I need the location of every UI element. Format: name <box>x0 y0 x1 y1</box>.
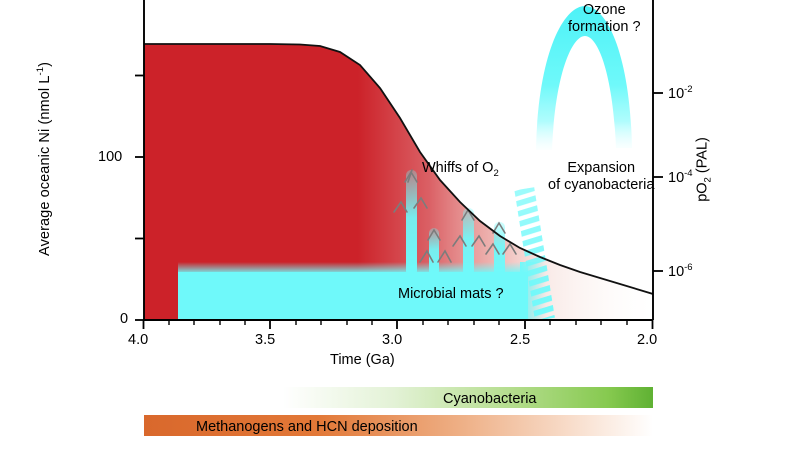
y-axis-right-ticks <box>653 93 663 271</box>
microbial-mat-band-top-fade <box>178 262 528 274</box>
y-axis-left-title: Average oceanic Ni (nmol L-1) <box>35 39 53 279</box>
y-axis-left-title-text: Average oceanic Ni (nmol L <box>37 75 53 255</box>
x-tick-label-2-5: 2.5 <box>510 332 530 348</box>
y-axis-right-title: pO2 (PAL) <box>695 79 714 259</box>
y2-tick-label-2: 10-4 <box>668 168 693 186</box>
whiff-spike-1 <box>406 170 417 276</box>
x-tick-label-3-0: 3.0 <box>382 332 402 348</box>
y-tick-label-0: 0 <box>120 311 128 327</box>
x-axis-title: Time (Ga) <box>330 352 395 368</box>
x-tick-label-4-0: 4.0 <box>128 332 148 348</box>
cyanobacteria-bar-label: Cyanobacteria <box>443 391 537 407</box>
y2-tick-label-1: 10-2 <box>668 84 693 102</box>
annotation-whiffs-of-o2: Whiffs of O2 <box>422 160 499 180</box>
x-tick-label-2-0: 2.0 <box>637 332 657 348</box>
annotation-expansion-of-cyanobacteria: Expansionof cyanobacteria <box>548 160 654 193</box>
y-tick-label-100: 100 <box>98 149 122 165</box>
annotation-ozone-formation: Ozoneformation ? <box>568 2 641 35</box>
figure-canvas <box>0 0 800 450</box>
y-axis-left-title-suffix: ) <box>37 62 53 67</box>
x-tick-label-3-5: 3.5 <box>255 332 275 348</box>
y-axis-left-title-exponent: -1 <box>35 67 46 76</box>
annotation-microbial-mats: Microbial mats ? <box>398 286 504 303</box>
methanogens-bar-label: Methanogens and HCN deposition <box>196 419 418 435</box>
y-axis-left-ticks <box>135 76 144 321</box>
y2-tick-label-3: 10-6 <box>668 262 693 280</box>
